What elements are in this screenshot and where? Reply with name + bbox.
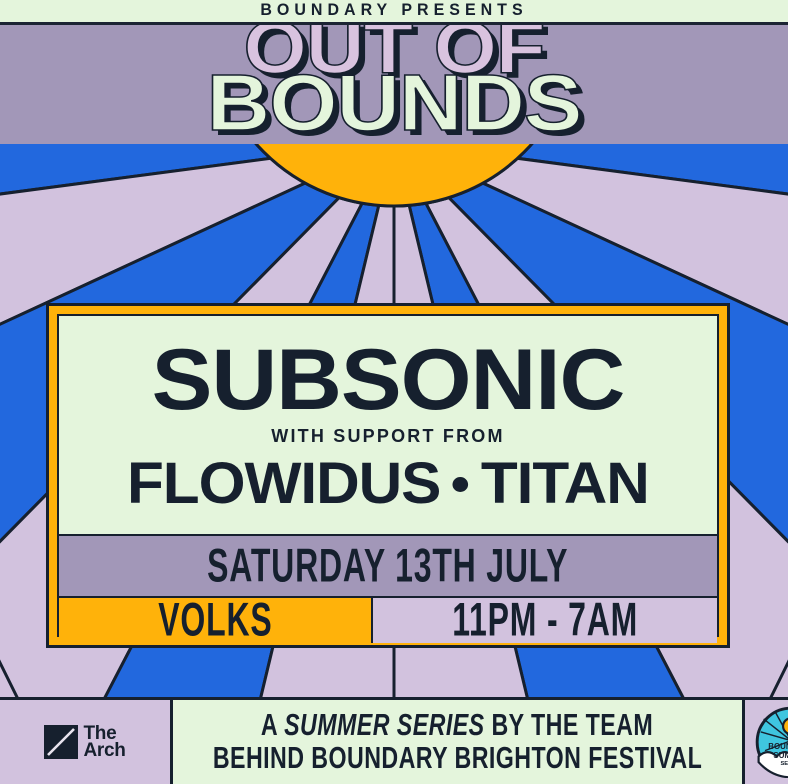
time-cell: 11PM - 7AM (373, 598, 717, 643)
lineup-section: SUBSONIC WITH SUPPORT FROM FLOWIDUS TITA… (59, 316, 717, 534)
support-act-1: FLOWIDUS (127, 455, 440, 513)
tagline-pre: A (261, 708, 284, 742)
venue-cell: VOLKS (59, 598, 373, 643)
boundary-summer-series-badge-icon: BOUNDARY SUMMER SERIES (755, 706, 788, 778)
poster-footer: The Arch A SUMMER SERIES BY THE TEAM BEH… (0, 697, 788, 784)
the-arch-logo: The Arch (44, 725, 125, 760)
support-acts: FLOWIDUS TITAN (127, 455, 649, 513)
headliner-name: SUBSONIC (152, 341, 625, 420)
footer-tagline-line-2: BEHIND BOUNDARY BRIGHTON FESTIVAL (213, 741, 702, 776)
dot-separator-icon (453, 477, 469, 492)
event-poster: BOUNDARY PRESENTS OUT OF BOUNDS SUBSONIC… (0, 0, 788, 784)
support-label: WITH SUPPORT FROM (271, 426, 504, 447)
event-date: SATURDAY 13TH JULY (207, 539, 568, 592)
title-line-2: BOUNDS (0, 71, 788, 135)
support-act-2: TITAN (481, 455, 649, 513)
presents-strip: BOUNDARY PRESENTS (0, 0, 788, 25)
event-time: 11PM - 7AM (452, 594, 638, 647)
date-row: SATURDAY 13TH JULY (59, 534, 717, 598)
footer-tagline-line-1: A SUMMER SERIES BY THE TEAM (261, 708, 653, 743)
footer-left-logo: The Arch (0, 700, 173, 784)
badge-text-top: BOUNDARY (768, 742, 788, 751)
arch-wordmark: The Arch (83, 725, 125, 760)
header-band: OUT OF BOUNDS (0, 22, 788, 144)
event-card: SUBSONIC WITH SUPPORT FROM FLOWIDUS TITA… (46, 303, 730, 648)
presents-text: BOUNDARY PRESENTS (260, 3, 527, 20)
venue-row: VOLKS 11PM - 7AM (59, 598, 717, 643)
event-card-inner: SUBSONIC WITH SUPPORT FROM FLOWIDUS TITA… (57, 314, 719, 637)
poster-title: OUT OF BOUNDS (0, 22, 788, 135)
badge-text-bottom: SERIES (780, 761, 788, 767)
tagline-post: BY THE TEAM (485, 708, 654, 742)
venue-name: VOLKS (158, 594, 272, 647)
tagline-italic: SUMMER SERIES (285, 708, 485, 742)
badge-text-mid: SUMMER (773, 751, 788, 760)
footer-tagline: A SUMMER SERIES BY THE TEAM BEHIND BOUND… (173, 700, 745, 784)
arch-mark-icon (44, 725, 78, 759)
arch-wordmark-line-2: Arch (83, 742, 125, 759)
footer-right-badge: BOUNDARY SUMMER SERIES (745, 700, 788, 784)
